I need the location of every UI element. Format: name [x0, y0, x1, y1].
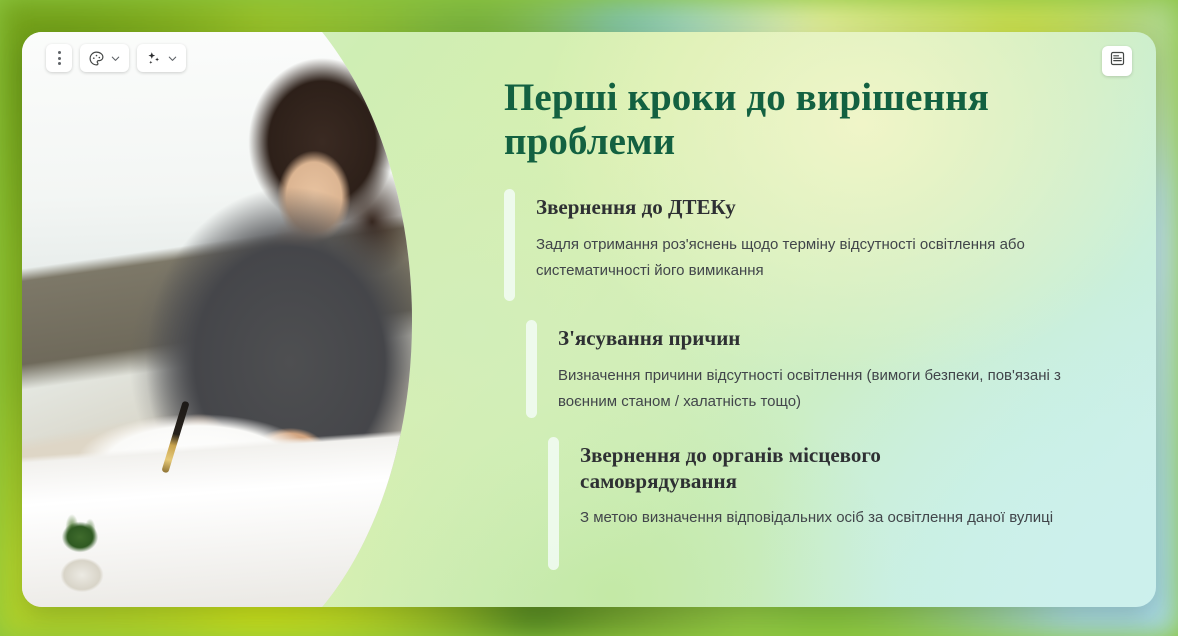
notes-document-icon — [1109, 50, 1126, 72]
step-heading[interactable]: Звернення до органів місцевого самовряду… — [580, 443, 1000, 493]
palette-icon — [88, 50, 105, 67]
slide-photo-panel[interactable] — [22, 32, 482, 607]
step-item[interactable]: Звернення до органів місцевого самовряду… — [504, 437, 1104, 570]
accent-bar — [526, 320, 537, 418]
step-body: Звернення до органів місцевого самовряду… — [580, 437, 1053, 531]
chevron-down-icon — [110, 53, 121, 64]
step-item[interactable]: Звернення до ДТЕКу Задля отримання роз'я… — [504, 189, 1104, 301]
steps-list: Звернення до ДТЕКу Задля отримання роз'я… — [504, 189, 1104, 570]
accent-bar — [504, 189, 515, 301]
sparkle-icon — [145, 50, 162, 67]
ai-sparkle-button[interactable] — [137, 44, 186, 72]
step-description[interactable]: З метою визначення відповідальних осіб з… — [580, 505, 1053, 532]
more-vertical-icon — [58, 51, 61, 65]
speaker-notes-button[interactable] — [1102, 46, 1132, 76]
step-body: З'ясування причин Визначення причини від… — [558, 320, 1104, 416]
slide-title[interactable]: Перші кроки до вирішення проблеми — [504, 76, 1004, 163]
step-body: Звернення до ДТЕКу Задля отримання роз'я… — [536, 189, 1084, 285]
slide-toolbar — [46, 44, 186, 72]
step-heading[interactable]: З'ясування причин — [558, 326, 978, 351]
woman-writing-document-photo — [22, 32, 482, 607]
step-description[interactable]: Визначення причини відсутності освітленн… — [558, 363, 1104, 416]
step-item[interactable]: З'ясування причин Визначення причини від… — [504, 320, 1104, 418]
slide-content: Перші кроки до вирішення проблеми Зверне… — [504, 32, 1156, 607]
theme-palette-button[interactable] — [80, 44, 129, 72]
step-heading[interactable]: Звернення до ДТЕКу — [536, 195, 956, 220]
more-options-button[interactable] — [46, 44, 72, 72]
slide-card: Перші кроки до вирішення проблеми Зверне… — [22, 32, 1156, 607]
step-description[interactable]: Задля отримання роз'яснень щодо терміну … — [536, 232, 1084, 285]
chevron-down-icon — [167, 53, 178, 64]
accent-bar — [548, 437, 559, 570]
